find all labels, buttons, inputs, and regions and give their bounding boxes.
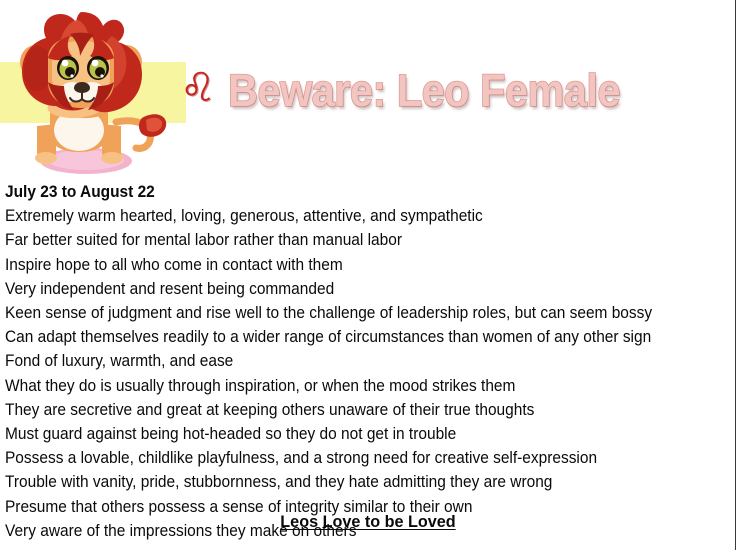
trait-line: Far better suited for mental labor rathe… bbox=[5, 228, 698, 252]
trait-line: Must guard against being hot-headed so t… bbox=[5, 422, 698, 446]
leo-lion-mascot bbox=[8, 6, 180, 176]
trait-line: Possess a lovable, childlike playfulness… bbox=[5, 446, 698, 470]
page-title: Beware: Leo Female bbox=[228, 68, 620, 113]
header-section: ♌ Beware: Leo Female bbox=[0, 0, 736, 176]
footer-tagline: Leos Love to be Loved bbox=[0, 512, 736, 532]
trait-line: Fond of luxury, warmth, and ease bbox=[5, 349, 698, 373]
trait-line: Extremely warm hearted, loving, generous… bbox=[5, 204, 698, 228]
title-row: ♌ Beware: Leo Female bbox=[180, 58, 654, 122]
trait-line: Keen sense of judgment and rise well to … bbox=[5, 301, 698, 325]
trait-line: Trouble with vanity, pride, stubbornness… bbox=[5, 470, 698, 494]
trait-line: They are secretive and great at keeping … bbox=[5, 398, 698, 422]
leo-zodiac-icon: ♌ bbox=[180, 68, 216, 108]
trait-line: Very independent and resent being comman… bbox=[5, 277, 698, 301]
trait-line: What they do is usually through inspirat… bbox=[5, 374, 698, 398]
trait-line: Inspire hope to all who come in contact … bbox=[5, 253, 698, 277]
footer-tagline-text: Leos Love to be Loved bbox=[280, 513, 455, 531]
zodiac-infographic-page: ♌ Beware: Leo Female July 23 to August 2… bbox=[0, 0, 736, 550]
traits-list: July 23 to August 22 Extremely warm hear… bbox=[5, 180, 731, 543]
trait-line: Can adapt themselves readily to a wider … bbox=[5, 325, 698, 349]
date-range-line: July 23 to August 22 bbox=[5, 180, 698, 204]
